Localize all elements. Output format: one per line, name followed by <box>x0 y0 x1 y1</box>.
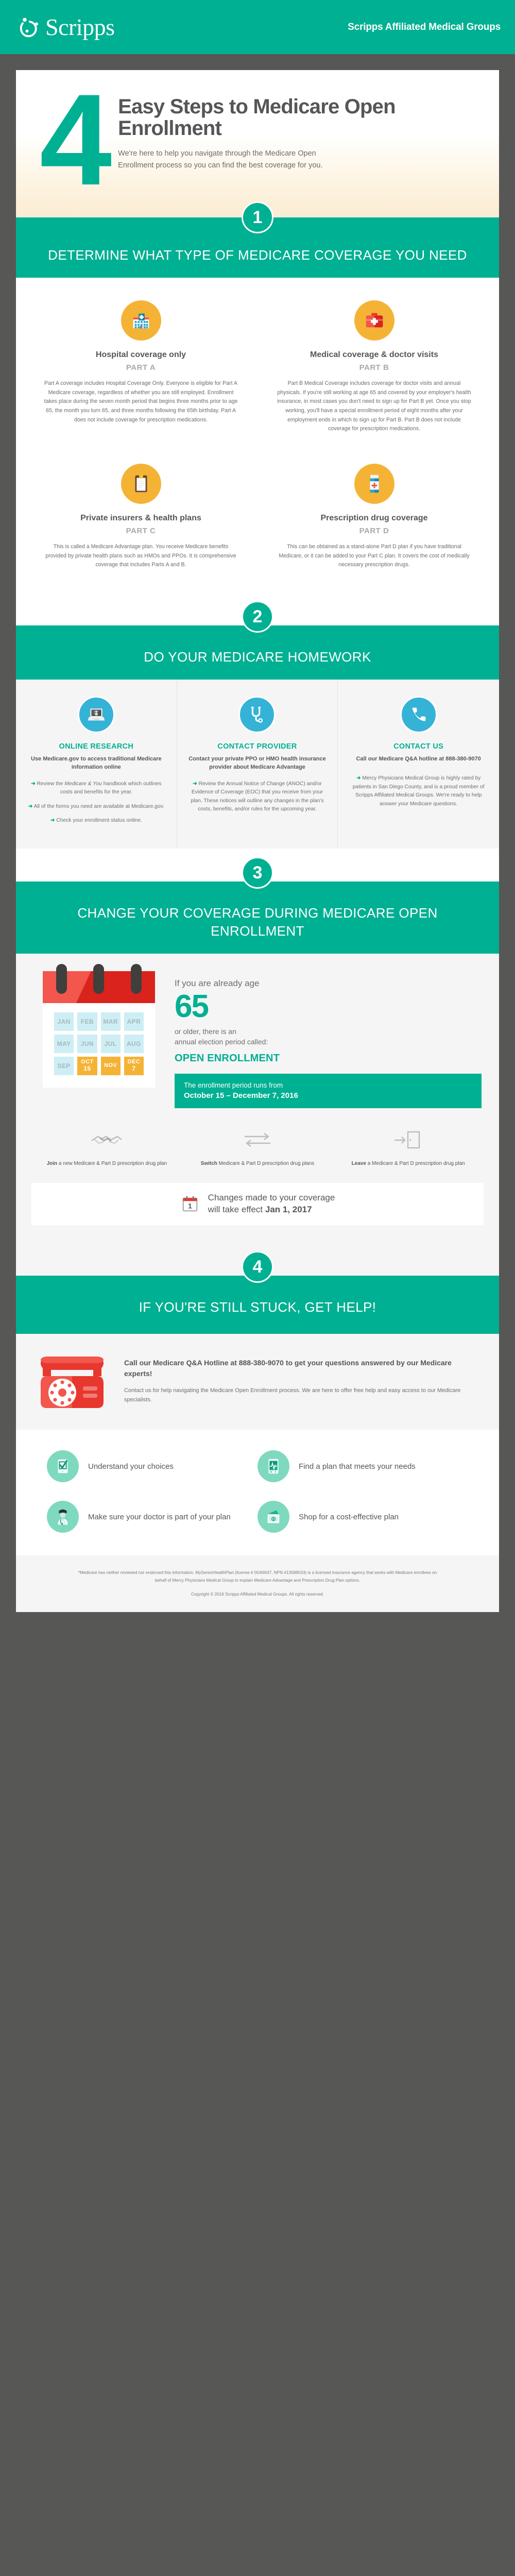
month-cell-highlight[interactable]: OCT 15 <box>77 1057 97 1075</box>
enroll-dates: October 15 – December 7, 2016 <box>184 1091 298 1100</box>
enrollment-period-bar: The enrollment period runs from October … <box>175 1074 482 1108</box>
effect-line-2-pre: will take effect <box>208 1205 265 1214</box>
effect-text: Changes made to your coverage will take … <box>208 1192 335 1216</box>
medicare-parts-grid: Hospital coverage only PART A Part A cov… <box>16 278 499 592</box>
money-wallet-icon: $ <box>257 1501 289 1533</box>
step-1-number: 1 <box>242 201 273 233</box>
homework-section: ONLINE RESEARCH Use Medicare.gov to acce… <box>16 680 499 849</box>
calendar-month-grid: JAN FEB MAR APR MAY JUN JUL AUG SEP OCT … <box>43 1003 155 1088</box>
option-label: Switch Medicare & Part D prescription dr… <box>190 1160 326 1168</box>
checklist-label: Make sure your doctor is part of your pl… <box>88 1512 231 1522</box>
clipboard-icon <box>121 464 161 504</box>
month-day: 7 <box>132 1065 135 1072</box>
month-cell[interactable]: SEP <box>54 1057 74 1075</box>
switch-arrows-icon <box>190 1126 326 1154</box>
homework-col-online-research: ONLINE RESEARCH Use Medicare.gov to acce… <box>16 680 177 849</box>
step-2-number: 2 <box>242 601 273 633</box>
brand-tagline: Scripps Affiliated Medical Groups <box>348 22 501 33</box>
content-canvas: 4 Easy Steps to Medicare Open Enrollment… <box>16 70 499 1612</box>
enroll-pre: The enrollment period runs from <box>184 1081 283 1089</box>
step-1-heading: DETERMINE WHAT TYPE OF MEDICARE COVERAGE… <box>31 246 484 264</box>
month-cell-highlight[interactable]: DEC 7 <box>124 1057 144 1075</box>
handshake-icon <box>39 1126 175 1154</box>
homework-bullet: ➜ Review the Annual Notice of Change (AN… <box>188 780 327 814</box>
part-card-c: Private insurers & health plans PART C T… <box>24 456 257 579</box>
homework-col-contact-provider: CONTACT PROVIDER Contact your private PP… <box>177 680 338 849</box>
homework-bullet: ➜ Check your enrollment status online. <box>27 817 165 825</box>
part-title: Hospital coverage only <box>43 350 239 360</box>
homework-columns: ONLINE RESEARCH Use Medicare.gov to acce… <box>16 680 499 849</box>
exit-door-icon <box>340 1126 476 1154</box>
infographic-page: Scripps Scripps Affiliated Medical Group… <box>0 0 515 1628</box>
hospital-icon <box>121 300 161 341</box>
option-label: Leave a Medicare & Part D prescription d… <box>340 1160 476 1168</box>
checklist-item-cost: $ Shop for a cost-effective plan <box>257 1501 468 1533</box>
effect-bar-wrap: 1 Changes made to your coverage will tak… <box>16 1183 499 1243</box>
calendar-one-icon: 1 <box>180 1194 200 1214</box>
month-cell[interactable]: AUG <box>124 1035 144 1053</box>
homework-bullet: ➜ Mercy Physicians Medical Group is high… <box>349 774 488 808</box>
homework-col-subtitle: Call our Medicare Q&A hotline at 888-380… <box>349 755 488 764</box>
title-block: 4 Easy Steps to Medicare Open Enrollment… <box>16 70 499 217</box>
age-number: 65 <box>175 990 482 1023</box>
stethoscope-icon <box>238 696 276 733</box>
calendar-illustration: JAN FEB MAR APR MAY JUN JUL AUG SEP OCT … <box>43 971 161 1088</box>
month-cell[interactable]: JUN <box>77 1035 97 1053</box>
rotary-phone-icon <box>33 1352 111 1414</box>
page-subtitle: We're here to help you navigate through … <box>118 148 324 172</box>
part-body: Part A coverage includes Hospital Covera… <box>43 379 239 425</box>
ring-icon <box>93 964 104 994</box>
step-3-heading: CHANGE YOUR COVERAGE DURING MEDICARE OPE… <box>31 904 484 940</box>
month-name: NOV <box>104 1063 117 1069</box>
heartbeat-tablet-icon <box>257 1450 289 1482</box>
cta-headline: Call our Medicare Q&A Hotline at 888-380… <box>124 1358 482 1379</box>
month-cell[interactable]: FEB <box>77 1012 97 1031</box>
title-big-number: 4 <box>40 90 107 191</box>
part-title: Prescription drug coverage <box>276 513 472 523</box>
homework-col-title: CONTACT PROVIDER <box>188 742 327 751</box>
logo[interactable]: Scripps <box>19 15 115 39</box>
homework-bullet: ➜ Review the Medicare & You handbook whi… <box>27 780 165 797</box>
arrow-icon: ➜ <box>193 781 197 787</box>
homework-col-subtitle: Use Medicare.gov to access traditional M… <box>27 755 165 772</box>
part-card-d: Prescription drug coverage PART D This c… <box>257 456 491 579</box>
step-2-heading: DO YOUR MEDICARE HOMEWORK <box>31 648 484 666</box>
checklist-item-find-plan: Find a plan that meets your needs <box>257 1450 468 1482</box>
part-label: PART C <box>43 527 239 535</box>
bottom-gap <box>0 1612 515 1628</box>
checklist-label: Find a plan that meets your needs <box>299 1462 416 1472</box>
part-body: This is called a Medicare Advantage plan… <box>43 543 239 570</box>
medical-kit-icon <box>354 300 394 341</box>
calendar-rings <box>43 964 155 994</box>
option-join: Join a new Medicare & Part D prescriptio… <box>31 1126 182 1168</box>
checklist-item-understand: Understand your choices <box>47 1450 257 1482</box>
cta-section: Call our Medicare Q&A Hotline at 888-380… <box>16 1334 499 1430</box>
ring-icon <box>56 964 67 994</box>
age-line-2: or older, there is an annual election pe… <box>175 1026 482 1047</box>
option-label: Join a new Medicare & Part D prescriptio… <box>39 1160 175 1168</box>
doctor-icon <box>47 1501 79 1533</box>
step-3-band: 3 CHANGE YOUR COVERAGE DURING MEDICARE O… <box>16 849 499 954</box>
arrow-icon: ➜ <box>356 775 361 781</box>
effect-bar: 1 Changes made to your coverage will tak… <box>31 1183 484 1225</box>
part-card-a: Hospital coverage only PART A Part A cov… <box>24 293 257 443</box>
checklist-item-doctor: Make sure your doctor is part of your pl… <box>47 1501 257 1533</box>
homework-col-title: ONLINE RESEARCH <box>27 742 165 751</box>
footer: *Medicare has neither reviewed nor endor… <box>16 1555 499 1612</box>
part-label: PART D <box>276 527 472 535</box>
svg-text:1: 1 <box>188 1202 192 1211</box>
step-3-number: 3 <box>242 857 273 889</box>
part-body: This can be obtained as a stand-alone Pa… <box>276 543 472 570</box>
open-enrollment-label: OPEN ENROLLMENT <box>175 1053 482 1064</box>
telephone-icon <box>400 696 437 733</box>
part-card-b: Medical coverage & doctor visits PART B … <box>257 293 491 443</box>
calendar-copy: If you are already age 65 or older, ther… <box>161 971 482 1108</box>
parts-row-cd: Private insurers & health plans PART C T… <box>24 456 491 579</box>
calendar-section: JAN FEB MAR APR MAY JUN JUL AUG SEP OCT … <box>16 954 499 1108</box>
step-2-band: 2 DO YOUR MEDICARE HOMEWORK <box>16 592 499 680</box>
coverage-options-row: Join a new Medicare & Part D prescriptio… <box>16 1108 499 1183</box>
brand-header: Scripps Scripps Affiliated Medical Group… <box>0 0 515 54</box>
arrow-icon: ➜ <box>28 804 33 809</box>
checkbox-tablet-icon <box>47 1450 79 1482</box>
effect-date: Jan 1, 2017 <box>265 1205 312 1214</box>
month-cell[interactable]: JAN <box>54 1012 74 1031</box>
checklist-label: Shop for a cost-effective plan <box>299 1512 399 1522</box>
option-leave: Leave a Medicare & Part D prescription d… <box>333 1126 484 1168</box>
laptop-caduceus-icon <box>78 696 115 733</box>
homework-bullet: ➜ All of the forms you need are availabl… <box>27 803 165 811</box>
effect-line-1: Changes made to your coverage <box>208 1193 335 1202</box>
arrow-icon: ➜ <box>31 781 36 787</box>
page-title: Easy Steps to Medicare Open Enrollment <box>118 96 475 140</box>
step-4-heading: IF YOU'RE STILL STUCK, GET HELP! <box>31 1298 484 1316</box>
logo-wordmark: Scripps <box>45 15 115 39</box>
homework-col-contact-us: CONTACT US Call our Medicare Q&A hotline… <box>338 680 499 849</box>
homework-col-subtitle: Contact your private PPO or HMO health i… <box>188 755 327 772</box>
part-title: Private insurers & health plans <box>43 513 239 523</box>
pill-bottle-icon <box>354 464 394 504</box>
month-cell[interactable]: JUL <box>101 1035 121 1053</box>
checklist-row: Understand your choices <box>47 1450 468 1482</box>
part-label: PART B <box>276 363 472 372</box>
footer-disclaimer: *Medicare has neither reviewed nor endor… <box>73 1569 442 1584</box>
homework-col-title: CONTACT US <box>349 742 488 751</box>
month-day: 15 <box>83 1065 91 1072</box>
part-label: PART A <box>43 363 239 372</box>
step-4-number: 4 <box>242 1251 273 1283</box>
part-title: Medical coverage & doctor visits <box>276 350 472 360</box>
scripps-atom-logo-icon <box>19 16 41 39</box>
cta-body: Contact us for help navigating the Medic… <box>124 1386 482 1405</box>
ring-icon <box>131 964 142 994</box>
footer-copyright: Copyright © 2016 Scripps Affiliated Medi… <box>73 1592 442 1597</box>
month-cell[interactable]: MAY <box>54 1035 74 1053</box>
month-cell[interactable]: APR <box>124 1012 144 1031</box>
arrow-icon: ➜ <box>50 818 55 823</box>
month-cell-highlight[interactable]: NOV <box>101 1057 121 1075</box>
checklist-label: Understand your choices <box>88 1462 174 1472</box>
age-line-1: If you are already age <box>175 978 482 989</box>
option-switch: Switch Medicare & Part D prescription dr… <box>182 1126 333 1168</box>
step-4-band: 4 IF YOU'RE STILL STUCK, GET HELP! <box>16 1243 499 1334</box>
step-1-band: 1 DETERMINE WHAT TYPE OF MEDICARE COVERA… <box>16 217 499 278</box>
parts-row-ab: Hospital coverage only PART A Part A cov… <box>24 293 491 443</box>
part-body: Part B Medical Coverage includes coverag… <box>276 379 472 433</box>
checklist-section: Understand your choices <box>16 1430 499 1555</box>
month-cell[interactable]: MAR <box>101 1012 121 1031</box>
checklist-row: Make sure your doctor is part of your pl… <box>47 1501 468 1533</box>
